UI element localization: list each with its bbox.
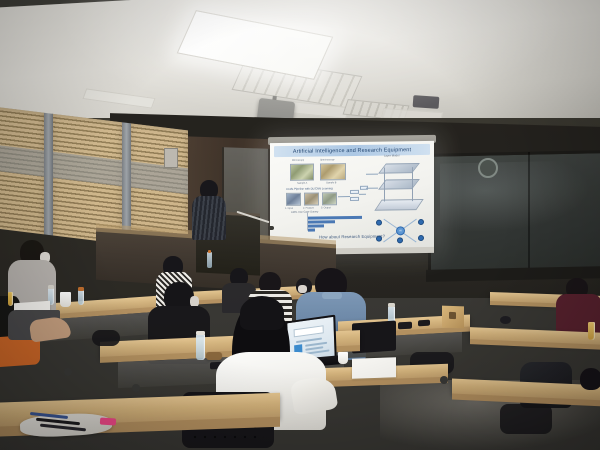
snack-item [206, 352, 222, 360]
podium-water-bottle [207, 252, 212, 268]
chalkboard-glare [440, 160, 590, 233]
laptop-content-line-1 [296, 337, 322, 342]
slide-flow-node-2 [350, 197, 359, 201]
chart-bar-1 [308, 220, 335, 223]
layer-pillar-2 [412, 167, 413, 201]
layer-callout-1 [366, 174, 378, 175]
drink-bottle-right [588, 322, 595, 340]
chalkboard-seam [528, 152, 530, 270]
paper-cup [60, 292, 71, 307]
microphone-icon [268, 226, 274, 230]
wall-control-panel [164, 148, 178, 168]
attendee-right-front-head [580, 368, 600, 390]
slide-bar-chart [286, 212, 364, 231]
chair-wheel-2 [132, 384, 140, 392]
chair-right-front [500, 404, 552, 434]
attendee-denim-collar [322, 292, 342, 299]
phone-on-table [398, 322, 412, 330]
handout-paper-front [352, 357, 396, 379]
slide-hub-diagram: AI [374, 217, 426, 244]
slide-flow-heading: AI-ML Pipeline with DL/CNN Learning [286, 186, 333, 191]
layer-base [374, 199, 423, 211]
slide-step-image-3 [322, 192, 337, 205]
bottle-cap-icon [388, 303, 395, 307]
slide-thumb-label-right: Spectroscopy [320, 158, 334, 161]
phone-on-table-2 [418, 320, 430, 327]
chair-wheel-3 [440, 376, 448, 384]
layer-callout-2 [366, 188, 378, 189]
seminar-room-photo: Artificial Intelligence and Research Equ… [0, 0, 600, 450]
slide-step-caption-3: 3. Output [321, 206, 331, 209]
bottle-cap-icon [196, 331, 205, 335]
slide-thumbnail-a [290, 164, 314, 181]
chart-bar-0 [308, 216, 362, 219]
water-bottle-front [196, 334, 205, 360]
wooden-marker-hole [449, 312, 456, 319]
bottle-cap-icon [78, 287, 84, 291]
slide-thumb-caption-b: Sample B [326, 181, 336, 184]
wall-clock-icon [478, 158, 498, 178]
slide-thumb-caption-a: Sample A [297, 182, 307, 185]
presenter-body [192, 196, 226, 240]
laptop-content-box [294, 325, 324, 337]
ceiling-equipment-box [413, 95, 440, 109]
pink-highlighter[interactable] [100, 417, 116, 425]
laptop-content-line-2 [305, 342, 327, 347]
slide-thumbnail-b [320, 163, 346, 180]
chart-bar-2 [308, 224, 324, 227]
slide-step-caption-1: 1. Input [285, 207, 293, 210]
hub-node-1 [376, 220, 382, 226]
projection-screen: Artificial Intelligence and Research Equ… [270, 141, 434, 251]
cup-front [338, 352, 348, 364]
computer-mouse [500, 316, 511, 324]
bottle-cap-icon [208, 250, 212, 253]
slide-step-image-2 [304, 192, 319, 205]
drink-bottle-yellow [8, 292, 13, 306]
slide-thumb-label-left: Microscopy [292, 159, 304, 162]
slide-layer-diagram [374, 159, 426, 212]
slide-flow-line-2 [359, 194, 366, 195]
chart-bar-3 [308, 229, 315, 232]
slide-title-bar: Artificial Intelligence and Research Equ… [274, 144, 430, 157]
hub-node-2 [418, 219, 424, 225]
attendee-woman-head [240, 296, 284, 330]
slide-diagram-heading: Layer Model [384, 153, 399, 157]
slide-flow-node-1 [350, 190, 359, 194]
layer-pillar-1 [384, 168, 385, 202]
water-bottle-back-2 [78, 290, 84, 305]
chair-back-left[interactable] [92, 330, 120, 346]
slide-step-image-1 [286, 193, 301, 206]
chair-wheel [64, 368, 72, 376]
slide-step-caption-2: 2. Feature [303, 207, 314, 210]
slide-flow-line-1 [338, 196, 350, 197]
bottle-cap-icon [48, 285, 54, 289]
